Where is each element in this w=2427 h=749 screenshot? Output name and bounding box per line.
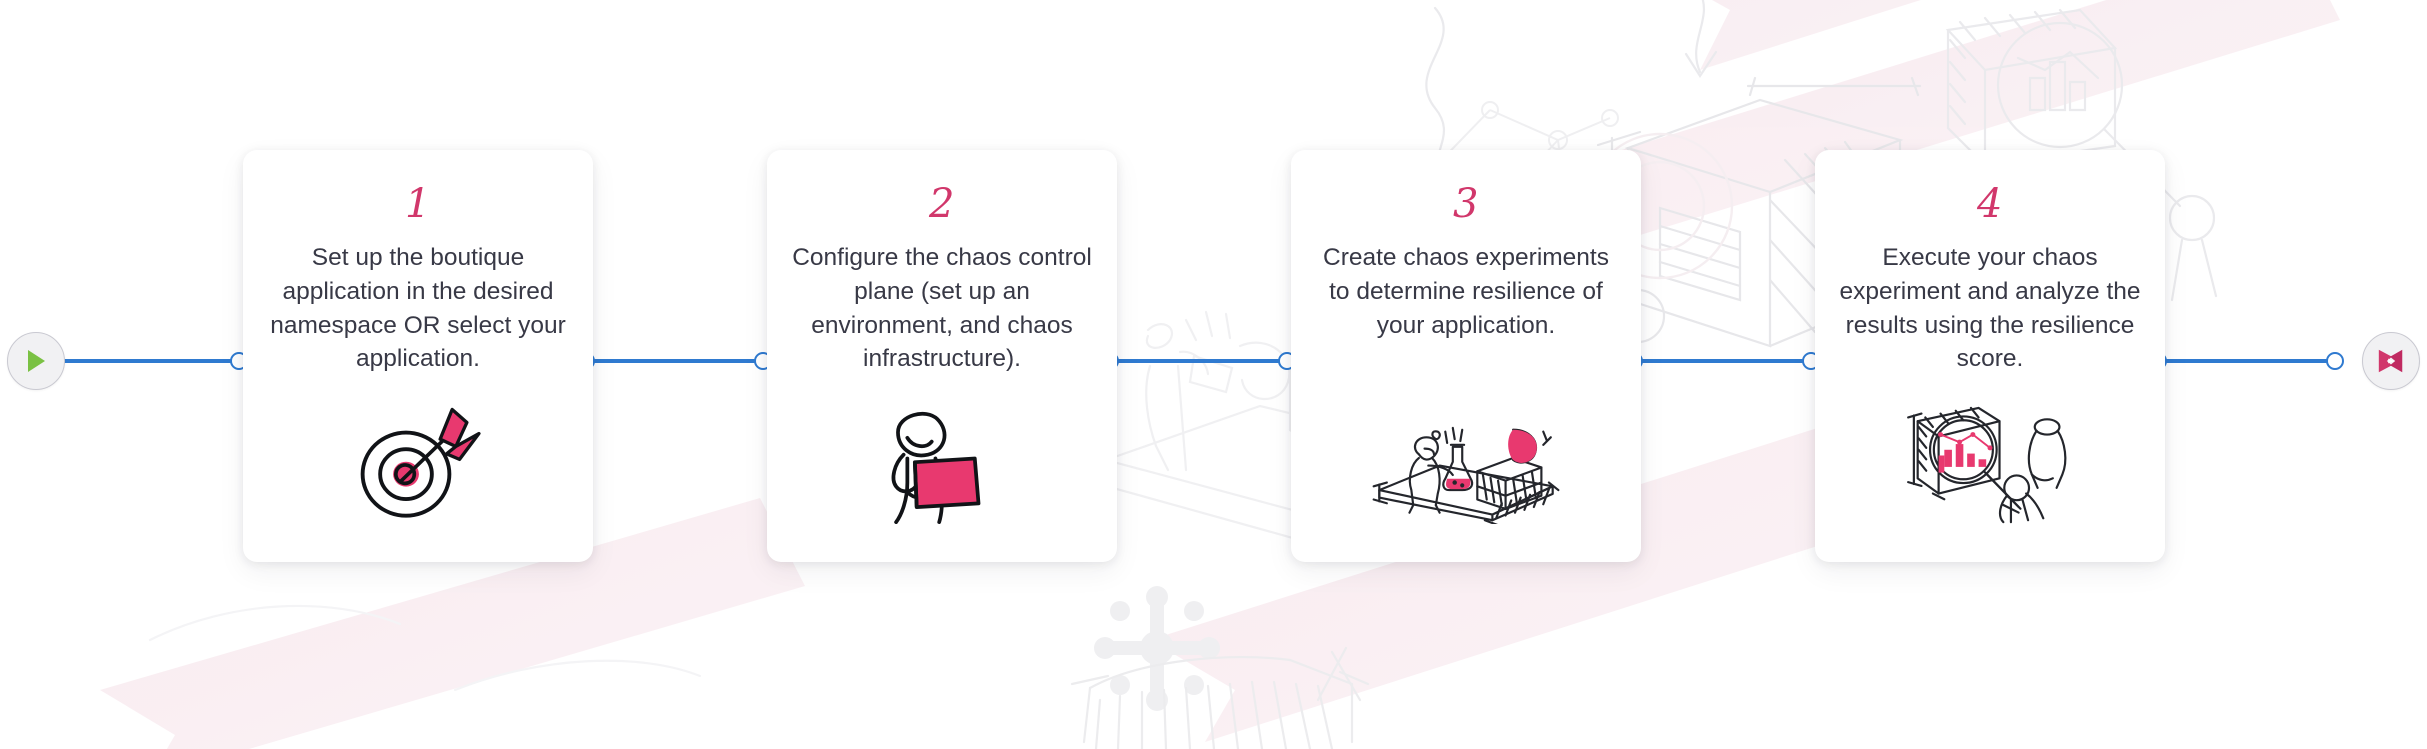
- step-description: Create chaos experiments to determine re…: [1313, 241, 1619, 342]
- chaos-onboarding-flow: 1 Set up the boutique application in the…: [0, 0, 2427, 749]
- step-description: Configure the chaos control plane (set u…: [789, 241, 1095, 376]
- step-card-2[interactable]: 2 Configure the chaos control plane (set…: [767, 150, 1117, 562]
- play-icon: [24, 348, 48, 374]
- step-illustration: [1313, 426, 1619, 524]
- step-number: 3: [1453, 184, 1479, 228]
- magnifier-chart-analysis-icon: [1904, 406, 2076, 524]
- step-number: 4: [1977, 184, 2003, 228]
- target-with-arrow-icon: [348, 404, 488, 524]
- step-card-4[interactable]: 4 Execute your chaos experiment and anal…: [1815, 150, 2165, 562]
- step-card-3[interactable]: 3 Create chaos experiments to determine …: [1291, 150, 1641, 562]
- connector-dot: [2326, 352, 2344, 370]
- step-card-1[interactable]: 1 Set up the boutique application in the…: [243, 150, 593, 562]
- step-number: 1: [405, 184, 431, 228]
- step-number: 2: [929, 184, 955, 228]
- person-holding-board-icon: [880, 406, 1004, 524]
- step-illustration: [1837, 406, 2143, 524]
- step-illustration: [265, 404, 571, 524]
- step-description: Execute your chaos experiment and analyz…: [1837, 241, 2143, 376]
- step-description: Set up the boutique application in the d…: [265, 241, 571, 376]
- flow-start-marker[interactable]: [7, 332, 65, 390]
- step-illustration: [789, 406, 1095, 524]
- harness-logo-icon: [2376, 346, 2406, 376]
- scientist-experiment-icon: [1371, 426, 1561, 524]
- flow-end-marker[interactable]: [2362, 332, 2420, 390]
